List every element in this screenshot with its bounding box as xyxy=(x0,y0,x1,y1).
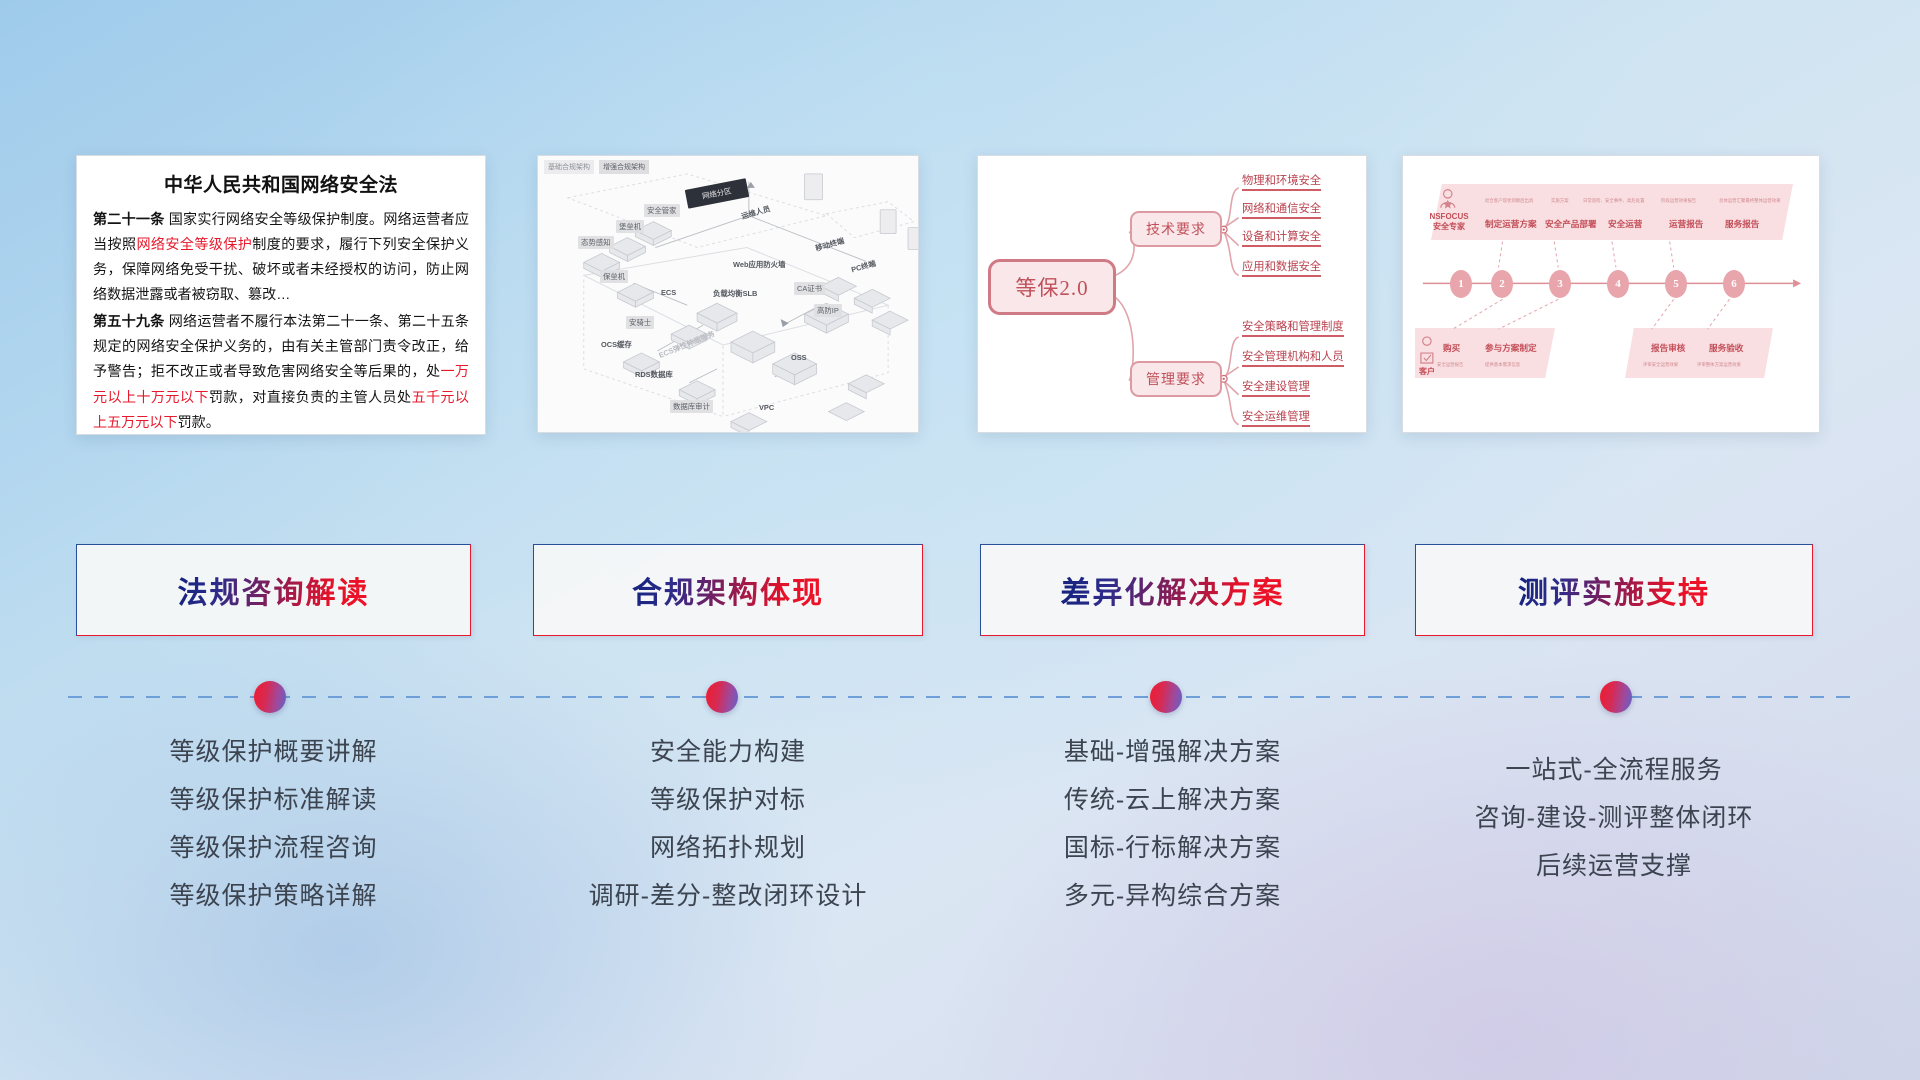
section-header-label-2: 合规架构体现 xyxy=(632,568,824,612)
section-header-label-3: 差异化解决方案 xyxy=(1061,568,1285,612)
bottom-step-sub-4: 评审整体方案运营效果 xyxy=(1697,362,1741,368)
section-header-4[interactable]: 测评实施支持 xyxy=(1415,544,1813,636)
section-items-2: 安全能力构建 等级保护对标 网络拓扑规划 调研-差分-整改闭环设计 xyxy=(533,740,923,932)
timeline-node-1: 1 xyxy=(1450,270,1472,298)
list-item: 咨询-建设-测评整体闭环 xyxy=(1415,806,1813,831)
law-run: 罚款。 xyxy=(178,414,220,430)
arch-label-7: RDS数据库 xyxy=(632,368,676,381)
list-item: 等级保护对标 xyxy=(533,788,923,813)
mindmap-leaf-t4: 应用和数据安全 xyxy=(1242,258,1321,277)
section-items-4: 一站式-全流程服务 咨询-建设-测评整体闭环 后续运营支撑 xyxy=(1415,740,1813,902)
arch-label-1: 堡垒机 xyxy=(616,220,644,233)
list-item: 多元-异构综合方案 xyxy=(980,884,1365,909)
mindmap-leaf-m4: 安全运维管理 xyxy=(1242,408,1310,427)
arch-label-0: 安全管家 xyxy=(644,204,680,217)
arch-label-5: 安骑士 xyxy=(626,316,654,329)
card-service-timeline: NSFOCUS 安全专家 客户 结合客户现状洞察后出具 制定运营方案 实施方案 … xyxy=(1402,155,1820,433)
top-step-main-4: 运营报告 xyxy=(1669,218,1703,230)
top-step-sub-4: 阶段运营效果报告 xyxy=(1661,198,1696,204)
law-run-highlight: 网络安全等级保护 xyxy=(136,236,252,252)
arch-label-10: Web应用防火墙 xyxy=(730,258,788,271)
timeline-connector xyxy=(0,672,1920,728)
top-step-sub-1: 结合客户现状洞察后出具 xyxy=(1485,198,1533,204)
section-items-row: 等级保护概要讲解 等级保护标准解读 等级保护流程咨询 等级保护策略详解 安全能力… xyxy=(0,740,1920,980)
customer-label: 客户 xyxy=(1419,366,1435,377)
top-step-main-2: 安全产品部署 xyxy=(1545,218,1597,230)
section-header-2[interactable]: 合规架构体现 xyxy=(533,544,923,636)
law-run: 罚款，对直接负责的主管人员处 xyxy=(209,389,412,405)
top-step-sub-2: 实施方案 xyxy=(1551,198,1569,204)
section-items-3: 基础-增强解决方案 传统-云上解决方案 国标-行标解决方案 多元-异构综合方案 xyxy=(980,740,1365,932)
timeline-marker-2[interactable] xyxy=(706,681,738,713)
section-items-1: 等级保护概要讲解 等级保护标准解读 等级保护流程咨询 等级保护策略详解 xyxy=(76,740,471,932)
card-mindmap-dengbao: 等保2.0 技术要求 管理要求 物理和环境安全 网络和通信安全 设备和计算安全 … xyxy=(977,155,1367,433)
bottom-step-sub-1: 安全运营报告 xyxy=(1437,362,1463,368)
list-item: 网络拓扑规划 xyxy=(533,836,923,861)
law-article-label: 第五十九条 xyxy=(93,313,165,329)
mindmap-leaf-t3: 设备和计算安全 xyxy=(1242,228,1321,247)
arch-label-2: 态势感知 xyxy=(578,236,614,249)
mindmap-branch-technical: 技术要求 xyxy=(1130,211,1222,247)
timeline-node-3: 3 xyxy=(1549,270,1571,298)
brand-line-2: 安全专家 xyxy=(1423,222,1475,232)
card-law-text: 中华人民共和国网络安全法 第二十一条 国家实行网络安全等级保护制度。网络运营者应… xyxy=(76,155,486,435)
bottom-step-main-1: 购买 xyxy=(1443,342,1460,354)
architecture-diagram: 基础合规架构 增强合规架构 xyxy=(538,156,918,432)
arch-label-12: 高防IP xyxy=(814,304,842,317)
mindmap-leaf-m3: 安全建设管理 xyxy=(1242,378,1310,397)
mindmap-root-node: 等保2.0 xyxy=(988,259,1116,315)
top-step-main-3: 安全运营 xyxy=(1608,218,1642,230)
list-item: 基础-增强解决方案 xyxy=(980,740,1365,765)
arch-label-3: 保垒机 xyxy=(600,270,628,283)
arch-label-17: VPC xyxy=(756,402,777,413)
arch-label-11: CA证书 xyxy=(794,282,825,295)
timeline-node-2: 2 xyxy=(1491,270,1513,298)
bottom-step-sub-2: 提供基本需求信息 xyxy=(1485,362,1520,368)
bottom-step-main-4: 服务验收 xyxy=(1709,342,1743,354)
bottom-step-main-2: 参与方案制定 xyxy=(1485,342,1537,354)
list-item: 等级保护概要讲解 xyxy=(76,740,471,765)
top-step-main-5: 服务报告 xyxy=(1725,218,1759,230)
section-header-label-4: 测评实施支持 xyxy=(1518,568,1710,612)
list-item: 传统-云上解决方案 xyxy=(980,788,1365,813)
timeline-node-5: 5 xyxy=(1665,270,1687,298)
section-header-3[interactable]: 差异化解决方案 xyxy=(980,544,1365,636)
section-header-1[interactable]: 法规咨询解读 xyxy=(76,544,471,636)
timeline-marker-4[interactable] xyxy=(1600,681,1632,713)
image-cards-row: 中华人民共和国网络安全法 第二十一条 国家实行网络安全等级保护制度。网络运营者应… xyxy=(0,0,1920,460)
mindmap-leaf-m2: 安全管理机构和人员 xyxy=(1242,348,1344,367)
timeline-node-4: 4 xyxy=(1607,270,1629,298)
list-item: 安全能力构建 xyxy=(533,740,923,765)
law-paragraph-59: 第五十九条 网络运营者不履行本法第二十一条、第二十五条规定的网络安全保护义务的，… xyxy=(93,309,469,434)
law-title: 中华人民共和国网络安全法 xyxy=(93,170,469,197)
arch-label-16: OSS xyxy=(788,352,810,363)
arch-label-6: OCS缓存 xyxy=(598,338,635,351)
law-article-label: 第二十一条 xyxy=(93,211,165,227)
brand-line-1: NSFOCUS xyxy=(1423,212,1475,222)
top-step-sub-5: 总体运营汇聚最终整体运营效果 xyxy=(1719,198,1780,204)
section-headers-row: 法规咨询解读 合规架构体现 差异化解决方案 测评实施支持 xyxy=(0,544,1920,644)
list-item: 后续运营支撑 xyxy=(1415,854,1813,879)
list-item: 等级保护策略详解 xyxy=(76,884,471,909)
list-item: 一站式-全流程服务 xyxy=(1415,758,1813,783)
mindmap-leaf-t2: 网络和通信安全 xyxy=(1242,200,1321,219)
poster-root: 中华人民共和国网络安全法 第二十一条 国家实行网络安全等级保护制度。网络运营者应… xyxy=(0,0,1920,1080)
list-item: 调研-差分-整改闭环设计 xyxy=(533,884,923,909)
arch-label-8: 数据库审计 xyxy=(670,400,713,413)
section-header-label-1: 法规咨询解读 xyxy=(178,568,370,612)
law-body: 中华人民共和国网络安全法 第二十一条 国家实行网络安全等级保护制度。网络运营者应… xyxy=(77,156,485,435)
list-item: 等级保护流程咨询 xyxy=(76,836,471,861)
arch-label-9: 负载均衡SLB xyxy=(710,287,760,300)
arch-label-4: ECS xyxy=(658,287,679,298)
bottom-step-main-3: 报告审核 xyxy=(1651,342,1685,354)
card-cloud-architecture: 基础合规架构 增强合规架构 xyxy=(537,155,919,433)
mindmap-branch-management: 管理要求 xyxy=(1130,361,1222,397)
timeline-dashed-line xyxy=(68,696,1852,698)
top-step-sub-3: 日常巡检、安全事件、高危处置 xyxy=(1583,198,1644,204)
mindmap: 等保2.0 技术要求 管理要求 物理和环境安全 网络和通信安全 设备和计算安全 … xyxy=(978,156,1366,432)
timeline-node-6: 6 xyxy=(1723,270,1745,298)
list-item: 国标-行标解决方案 xyxy=(980,836,1365,861)
timeline-marker-3[interactable] xyxy=(1150,681,1182,713)
mindmap-leaf-t1: 物理和环境安全 xyxy=(1242,172,1321,191)
top-step-main-1: 制定运营方案 xyxy=(1485,218,1537,230)
mindmap-leaf-m1: 安全策略和管理制度 xyxy=(1242,318,1344,337)
brand-label: NSFOCUS 安全专家 xyxy=(1423,212,1475,232)
bottom-step-sub-3: 评审安全运营效果 xyxy=(1643,362,1678,368)
law-paragraph-21: 第二十一条 国家实行网络安全等级保护制度。网络运营者应当按照网络安全等级保护制度… xyxy=(93,207,469,307)
list-item: 等级保护标准解读 xyxy=(76,788,471,813)
timeline-marker-1[interactable] xyxy=(254,681,286,713)
nsfocus-timeline: NSFOCUS 安全专家 客户 结合客户现状洞察后出具 制定运营方案 实施方案 … xyxy=(1403,156,1819,432)
